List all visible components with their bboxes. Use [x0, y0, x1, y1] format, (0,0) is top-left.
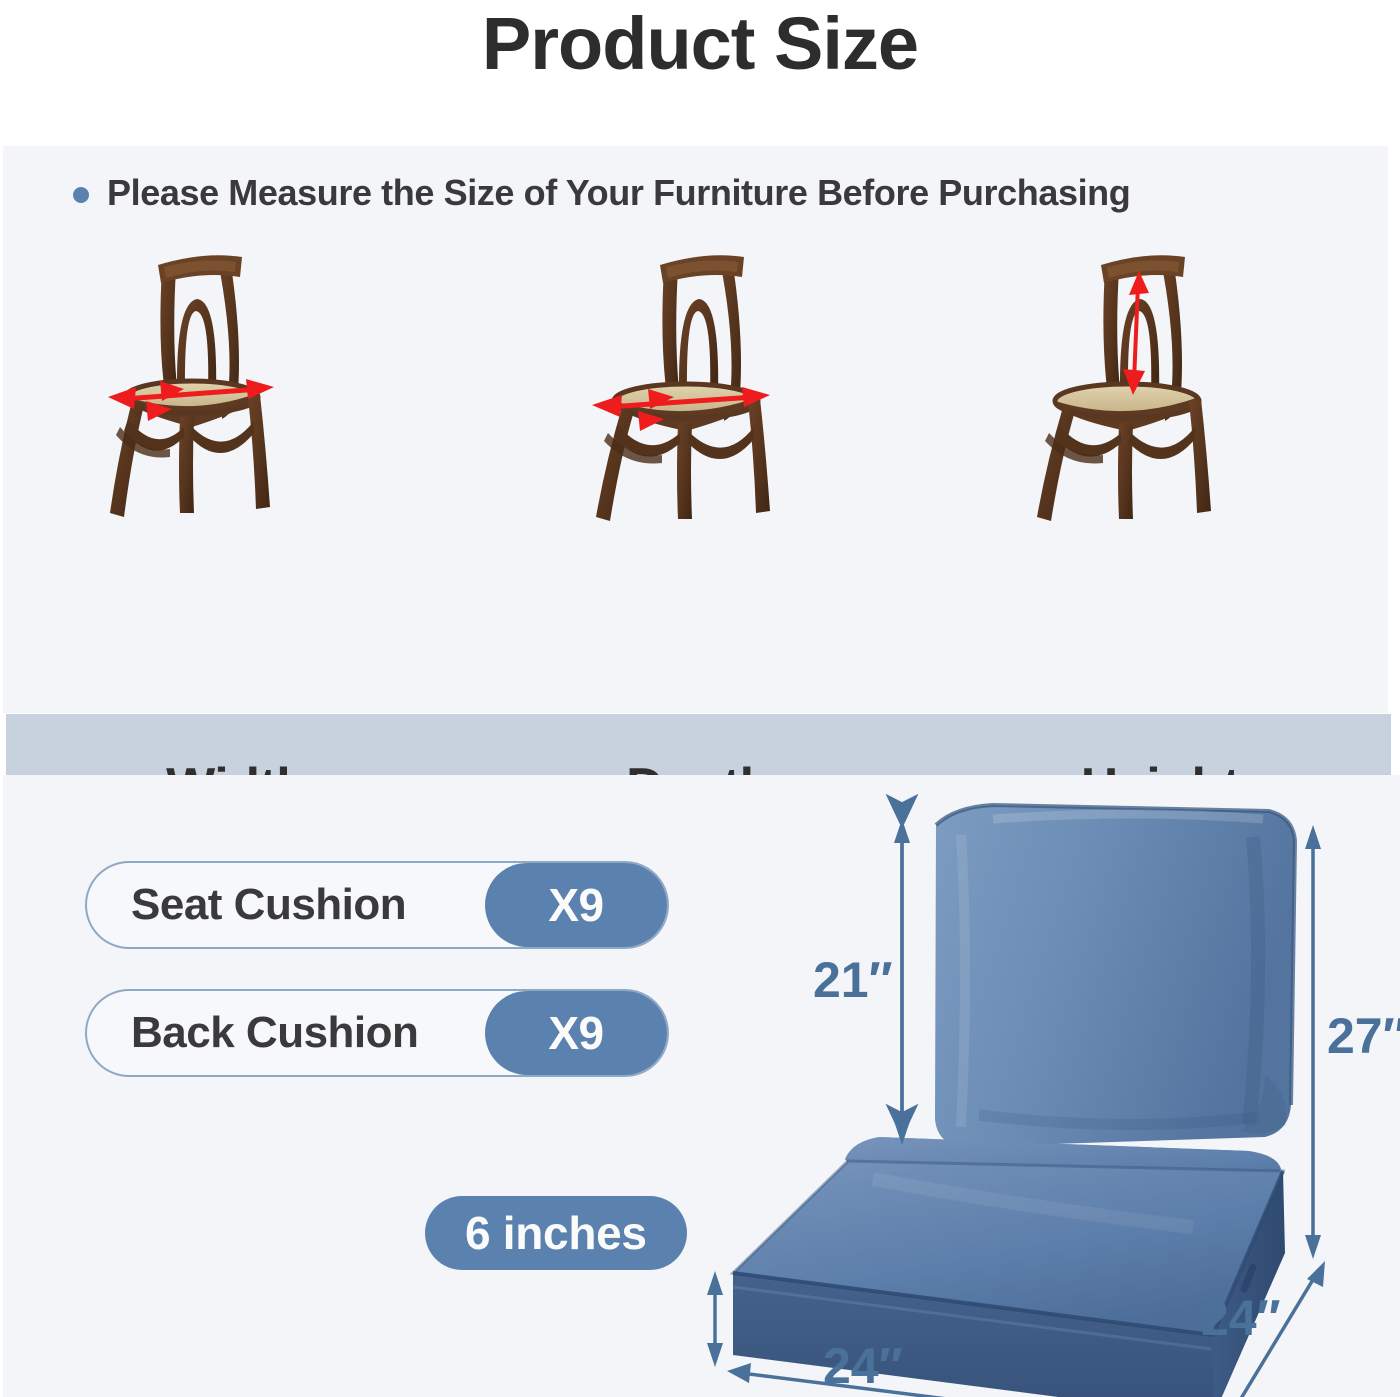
chair-height-cell: [926, 231, 1388, 581]
measure-panel: Please Measure the Size of Your Furnitur…: [3, 146, 1388, 713]
measure-note-row: Please Measure the Size of Your Furnitur…: [73, 172, 1130, 214]
dim-total-height: [1305, 825, 1321, 1259]
cushion-illustration: 21″ 27″: [693, 775, 1400, 1397]
back-cushion-label: Back Cushion: [87, 1008, 485, 1058]
back-cushion-shape: [935, 805, 1295, 1147]
chair-width-icon: [84, 241, 384, 571]
dim-label-total-height: 27″: [1327, 1008, 1400, 1064]
seat-cushion-pill: Seat Cushion X9: [85, 861, 669, 949]
cushion-panel: Seat Cushion X9 Back Cushion X9 6 inches: [3, 775, 1400, 1397]
page-title: Product Size: [0, 4, 1400, 84]
deep-seat-cushion-icon: 21″ 27″: [693, 775, 1400, 1397]
seat-cushion-shape: [733, 1137, 1285, 1397]
dim-label-seat-depth: 24″: [1201, 1290, 1281, 1346]
chair-depth-cell: [465, 231, 927, 581]
back-cushion-qty: X9: [485, 991, 667, 1075]
seat-cushion-label: Seat Cushion: [87, 880, 485, 930]
dim-back-height: [894, 819, 910, 1145]
dim-label-back-height: 21″: [813, 952, 893, 1008]
product-size-infographic: Product Size Please Measure the Size of …: [0, 0, 1400, 1397]
dim-label-seat-width: 24″: [823, 1338, 903, 1394]
chair-height-icon: [1007, 241, 1307, 571]
chair-depth-icon: [546, 241, 846, 571]
chair-illustration-row: [3, 231, 1388, 581]
chair-width-cell: [3, 231, 465, 581]
back-cushion-pill: Back Cushion X9: [85, 989, 669, 1077]
thickness-badge: 6 inches: [425, 1196, 687, 1270]
bullet-dot-icon: [73, 187, 89, 203]
seat-cushion-qty: X9: [485, 863, 667, 947]
measure-note-text: Please Measure the Size of Your Furnitur…: [107, 172, 1130, 214]
dim-seat-thickness: [707, 1271, 723, 1367]
